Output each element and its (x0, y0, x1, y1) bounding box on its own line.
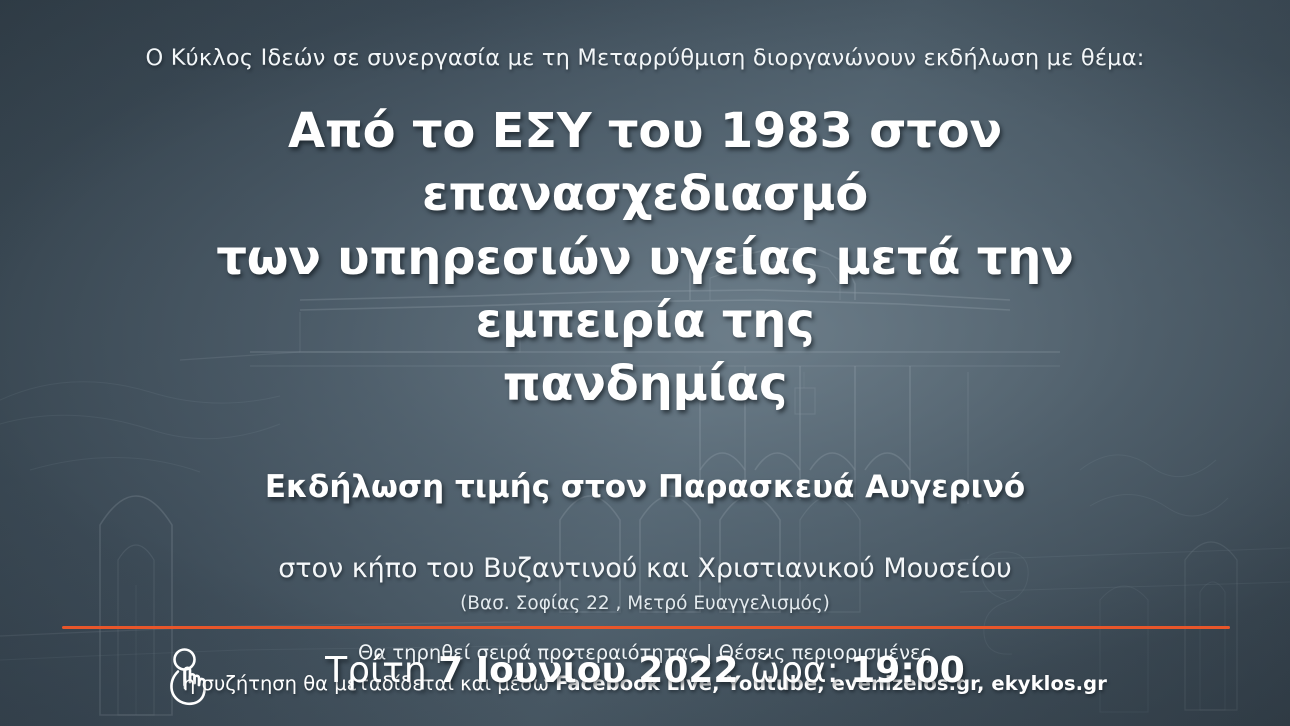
organiser-line: Ο Κύκλος Ιδεών σε συνεργασία με τη Μεταρ… (145, 45, 1144, 71)
page-title-line-3: πανδημίας (105, 353, 1185, 416)
event-poster: Ο Κύκλος Ιδεών σε συνεργασία με τη Μεταρ… (0, 0, 1290, 726)
venue-name: στον κήπο του Βυζαντινού και Χριστιανικο… (278, 553, 1012, 584)
page-title: Από το ΕΣΥ του 1983 στον επανασχεδιασμό … (105, 100, 1185, 417)
event-datetime: Τρίτη 7 Ιουνίου 2022 ώρα: 19:00 (325, 650, 965, 691)
page-title-line-1: Από το ΕΣΥ του 1983 στον επανασχεδιασμό (105, 100, 1185, 227)
page-title-line-2: των υπηρεσιών υγείας μετά την εμπειρία τ… (105, 227, 1185, 354)
event-date: 7 Ιουνίου 2022 (438, 650, 738, 691)
honouree-line: Εκδήλωση τιμής στον Παρασκευά Αυγερινό (265, 469, 1025, 505)
event-time-label: ώρα: (738, 650, 850, 691)
event-weekday: Τρίτη (325, 650, 438, 691)
event-time-value: 19:00 (850, 650, 965, 691)
venue-address: (Βασ. Σοφίας 22 , Μετρό Ευαγγελισμός) (460, 593, 830, 614)
